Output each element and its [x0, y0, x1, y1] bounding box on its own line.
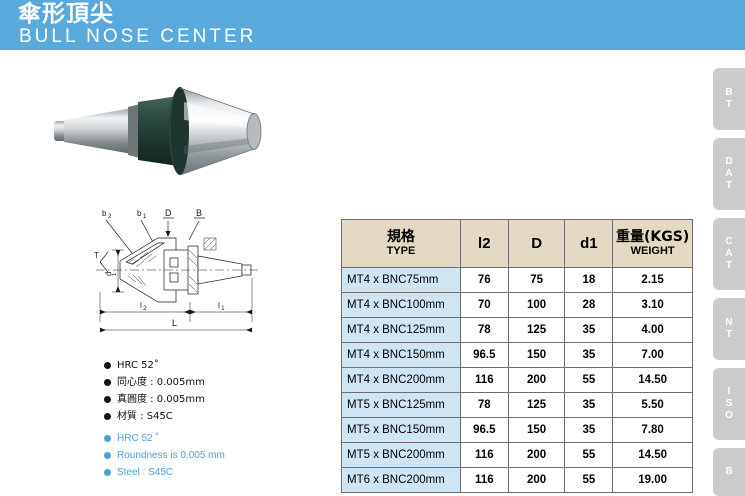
column-header-weight-en: WEIGHT [613, 245, 692, 258]
cell-type: MT4 x BNC200mm [342, 368, 461, 393]
spec-item-cn: 材質 : S45C [104, 408, 205, 425]
cell-d1: 18 [565, 268, 613, 293]
cell-l2: 96.5 [460, 343, 508, 368]
column-header-l2-label: l2 [478, 235, 491, 252]
spec-item-en-text: Steel : S45C [117, 467, 173, 478]
side-tab-cat[interactable]: CAT [713, 218, 745, 290]
cell-type: MT4 x BNC125mm [342, 318, 461, 343]
table-row: MT4 x BNC125mm 78 125 35 4.00 [342, 318, 693, 343]
side-tab-bt[interactable]: BT [713, 68, 745, 130]
svg-text:b: b [102, 209, 107, 218]
column-header-l2: l2 [460, 220, 508, 268]
cell-weight: 3.10 [613, 293, 693, 318]
cell-weight: 5.50 [613, 393, 693, 418]
spec-item-cn-text: 材質 : S45C [117, 411, 173, 422]
cell-type: MT4 x BNC75mm [342, 268, 461, 293]
page-title-cn: 傘形頂尖 [18, 2, 114, 27]
column-header-type-en: TYPE [342, 245, 460, 258]
column-header-d1-label: d1 [580, 235, 598, 252]
spec-item-cn-text: HRC 52˚ [117, 360, 159, 371]
bullet-icon [104, 396, 111, 403]
spec-list-cn: HRC 52˚ 同心度 : 0.005mm 真圓度 : 0.005mm 材質 :… [104, 357, 205, 425]
cell-d1: 35 [565, 318, 613, 343]
svg-text:l: l [218, 300, 220, 310]
page-title-en: BULL NOSE CENTER [19, 27, 256, 47]
svg-text:2: 2 [108, 214, 112, 220]
cell-d: 100 [508, 293, 565, 318]
column-header-weight-cn: 重量(KGS) [613, 229, 692, 245]
svg-text:b: b [137, 209, 142, 218]
spec-item-en: Roundness is 0.005 mm [104, 447, 225, 464]
side-tab-label: CAT [724, 236, 735, 272]
cell-d: 150 [508, 418, 565, 443]
cell-weight: 7.00 [613, 343, 693, 368]
svg-text:L: L [172, 318, 177, 328]
specification-table: 規格 TYPE l2 D d1 重量(KGS) WEIGHT [341, 219, 693, 493]
bullet-icon [104, 413, 111, 420]
page-header-banner: 傘形頂尖 BULL NOSE CENTER [0, 0, 745, 50]
cell-d1: 35 [565, 343, 613, 368]
cell-weight: 19.00 [613, 468, 693, 493]
bullet-icon [104, 362, 111, 369]
cell-type: MT4 x BNC150mm [342, 343, 461, 368]
spec-item-en-text: Roundness is 0.005 mm [117, 450, 225, 461]
svg-text:1: 1 [221, 305, 225, 312]
column-header-type: 規格 TYPE [342, 220, 461, 268]
table-row: MT4 x BNC75mm 76 75 18 2.15 [342, 268, 693, 293]
cell-type: MT4 x BNC100mm [342, 293, 461, 318]
cell-l2: 78 [460, 318, 508, 343]
cell-d: 200 [508, 468, 565, 493]
column-header-d-label: D [531, 235, 542, 252]
svg-text:T: T [94, 251, 99, 260]
side-tab-label: ISO [724, 386, 735, 422]
side-tab-nt[interactable]: NT [713, 298, 745, 360]
cell-type: MT6 x BNC200mm [342, 468, 461, 493]
cell-type: MT5 x BNC200mm [342, 443, 461, 468]
bullet-icon [104, 435, 111, 442]
cell-weight: 2.15 [613, 268, 693, 293]
bullet-icon [104, 469, 111, 476]
spec-table: 規格 TYPE l2 D d1 重量(KGS) WEIGHT [341, 219, 693, 493]
cell-l2: 116 [460, 368, 508, 393]
svg-text:1: 1 [143, 214, 147, 220]
svg-text:l: l [140, 300, 142, 310]
table-row: MT5 x BNC150mm 96.5 150 35 7.80 [342, 418, 693, 443]
cell-d1: 35 [565, 418, 613, 443]
cell-d1: 55 [565, 443, 613, 468]
table-row: MT6 x BNC200mm 116 200 55 19.00 [342, 468, 693, 493]
cell-l2: 116 [460, 443, 508, 468]
side-tab-label: NT [724, 317, 735, 341]
cell-weight: 4.00 [613, 318, 693, 343]
spec-list-en: HRC 52 ˚ Roundness is 0.005 mm Steel : S… [104, 430, 225, 481]
cell-d: 200 [508, 443, 565, 468]
technical-drawing: b 2 b 1 D B [92, 206, 337, 346]
bullet-icon [104, 379, 111, 386]
column-header-type-cn: 規格 [342, 229, 460, 245]
side-tab-iso[interactable]: ISO [713, 368, 745, 440]
bullet-icon [104, 452, 111, 459]
cell-d: 75 [508, 268, 565, 293]
side-tab-label: B [724, 466, 735, 478]
cell-weight: 14.50 [613, 443, 693, 468]
spec-item-en: HRC 52 ˚ [104, 430, 225, 447]
cell-type: MT5 x BNC150mm [342, 418, 461, 443]
cell-d1: 35 [565, 393, 613, 418]
bull-nose-center-photo [28, 58, 328, 203]
svg-text:2: 2 [143, 305, 147, 312]
spec-item-cn-text: 真圓度 : 0.005mm [117, 394, 205, 405]
cell-d: 125 [508, 393, 565, 418]
svg-text:D: D [165, 208, 172, 218]
table-row: MT5 x BNC125mm 78 125 35 5.50 [342, 393, 693, 418]
column-header-weight: 重量(KGS) WEIGHT [613, 220, 693, 268]
svg-text:B: B [196, 208, 202, 218]
spec-item-cn: HRC 52˚ [104, 357, 205, 374]
cell-weight: 7.80 [613, 418, 693, 443]
side-tab-dat[interactable]: DAT [713, 138, 745, 210]
cell-d: 200 [508, 368, 565, 393]
cell-l2: 78 [460, 393, 508, 418]
table-row: MT5 x BNC200mm 116 200 55 14.50 [342, 443, 693, 468]
spec-item-en-text: HRC 52 ˚ [117, 433, 159, 444]
cell-d1: 28 [565, 293, 613, 318]
column-header-d1: d1 [565, 220, 613, 268]
cell-l2: 70 [460, 293, 508, 318]
table-row: MT4 x BNC150mm 96.5 150 35 7.00 [342, 343, 693, 368]
cell-d1: 55 [565, 468, 613, 493]
cell-l2: 76 [460, 268, 508, 293]
spec-item-cn-text: 同心度 : 0.005mm [117, 377, 205, 388]
cell-d1: 55 [565, 368, 613, 393]
side-tab-b[interactable]: B [713, 448, 745, 496]
cell-d: 150 [508, 343, 565, 368]
column-header-d: D [508, 220, 565, 268]
spec-item-cn: 真圓度 : 0.005mm [104, 391, 205, 408]
spec-item-cn: 同心度 : 0.005mm [104, 374, 205, 391]
side-tab-label: BT [724, 87, 735, 111]
cell-d: 125 [508, 318, 565, 343]
side-tab-rail: BT DAT CAT NT ISO B [700, 50, 745, 488]
table-body: MT4 x BNC75mm 76 75 18 2.15 MT4 x BNC100… [342, 268, 693, 493]
table-row: MT4 x BNC200mm 116 200 55 14.50 [342, 368, 693, 393]
cell-l2: 116 [460, 468, 508, 493]
spec-item-en: Steel : S45C [104, 464, 225, 481]
cell-type: MT5 x BNC125mm [342, 393, 461, 418]
cell-l2: 96.5 [460, 418, 508, 443]
table-header-row: 規格 TYPE l2 D d1 重量(KGS) WEIGHT [342, 220, 693, 268]
table-row: MT4 x BNC100mm 70 100 28 3.10 [342, 293, 693, 318]
side-tab-label: DAT [724, 156, 735, 192]
cell-weight: 14.50 [613, 368, 693, 393]
